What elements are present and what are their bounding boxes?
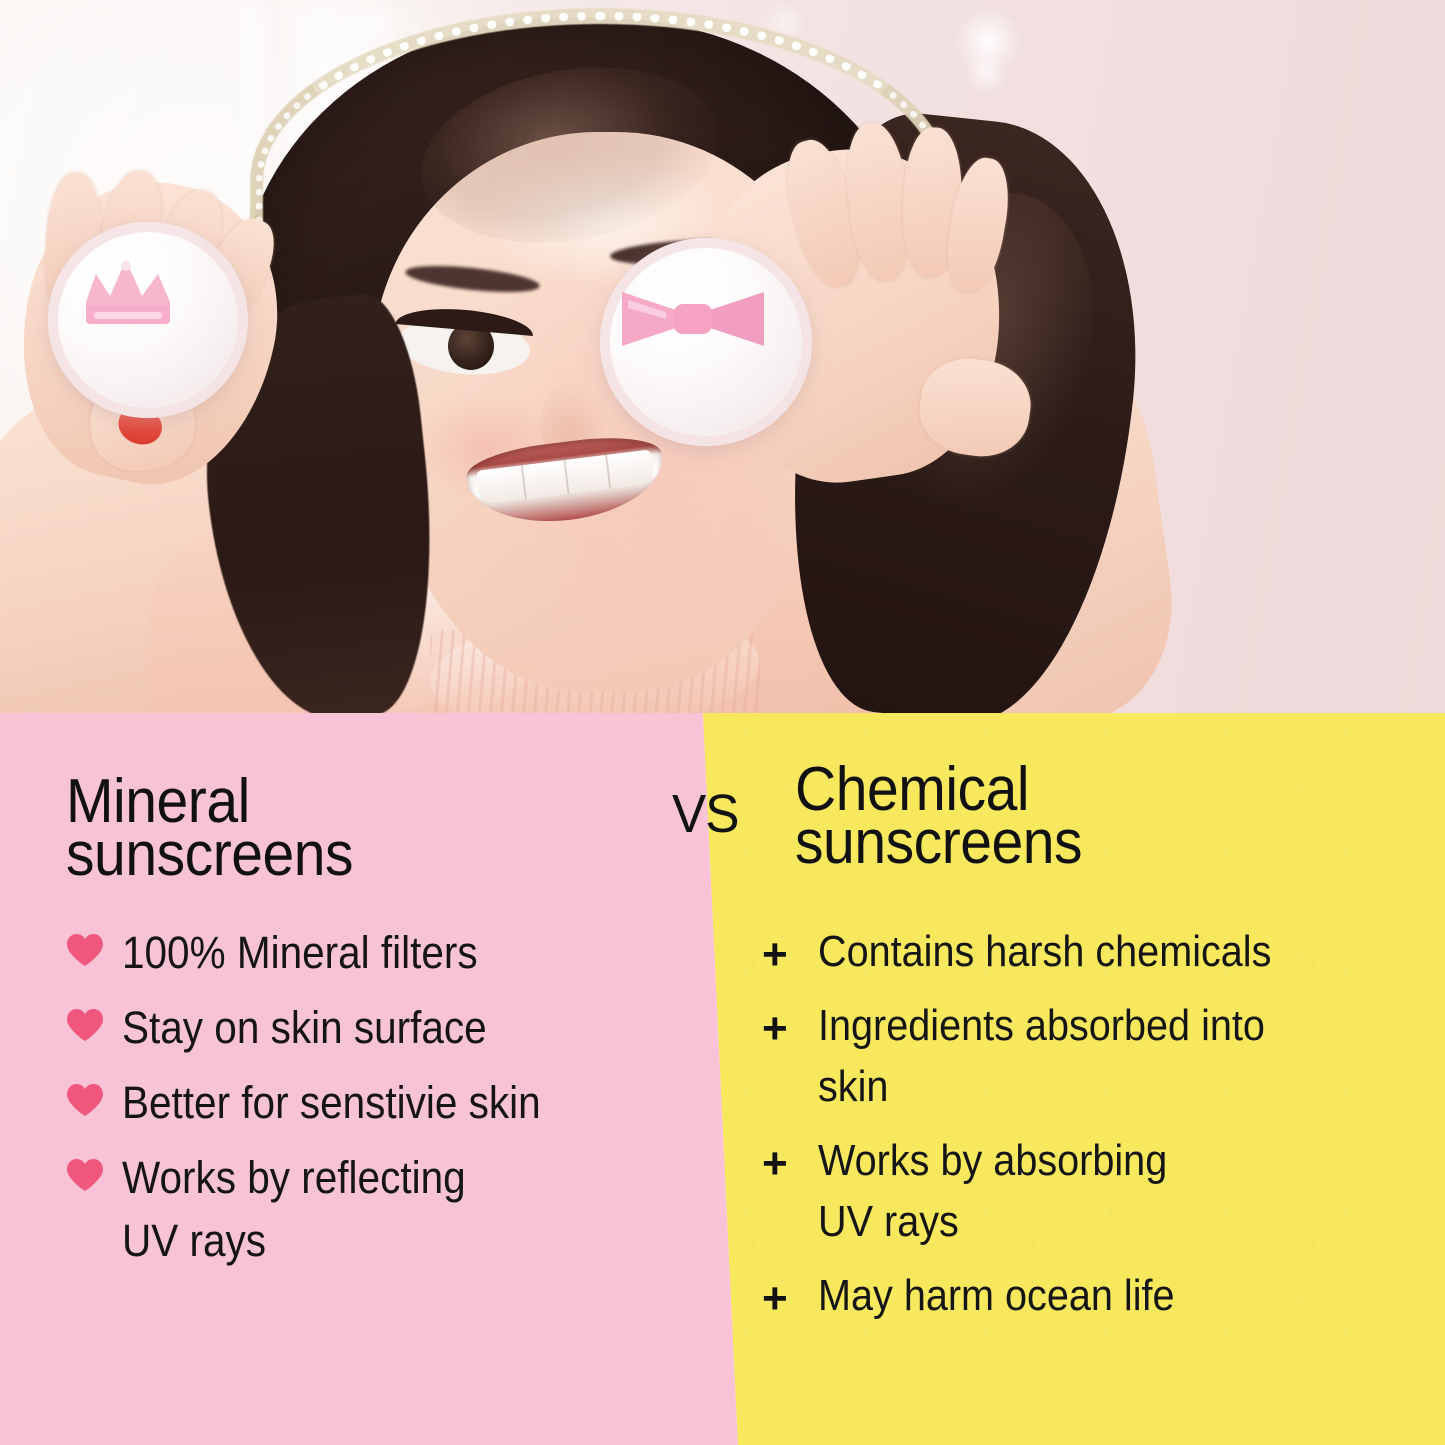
list-item: + May harm ocean life xyxy=(762,1265,1442,1327)
heart-icon xyxy=(66,1158,104,1192)
plus-icon: + xyxy=(762,933,788,977)
bullet-marker xyxy=(66,1071,122,1117)
list-item: + Works by absorbing UV rays xyxy=(762,1130,1442,1253)
plus-icon: + xyxy=(762,1277,788,1321)
mineral-benefits-list: 100% Mineral filters Stay on skin surfac… xyxy=(66,921,706,1284)
bullet-marker xyxy=(66,1146,122,1192)
list-item: Better for senstivie skin xyxy=(66,1071,706,1134)
bullet-marker: + xyxy=(762,1130,818,1186)
bullet-marker: + xyxy=(762,1265,818,1321)
mineral-heading: Mineral sunscreens xyxy=(66,775,353,882)
bow-icon xyxy=(618,282,768,354)
chemical-heading: Chemical sunscreens xyxy=(795,763,1082,870)
plus-icon: + xyxy=(762,1007,788,1051)
bullet-marker xyxy=(66,996,122,1042)
list-item: + Contains harsh chemicals xyxy=(762,921,1442,983)
list-item-text: Works by reflecting UV rays xyxy=(122,1146,466,1272)
comparison-panels: Mineral sunscreens VS Chemical sunscreen… xyxy=(0,713,1445,1445)
list-item-text: Works by absorbing UV rays xyxy=(818,1130,1167,1253)
bullet-marker: + xyxy=(762,921,818,977)
bullet-marker: + xyxy=(762,995,818,1051)
list-item-text: Better for senstivie skin xyxy=(122,1071,541,1134)
heart-icon xyxy=(66,933,104,967)
vs-label: VS xyxy=(672,783,739,845)
bokeh-sparkle-icon xyxy=(965,52,1007,92)
heart-icon xyxy=(66,1083,104,1117)
heart-icon xyxy=(66,1008,104,1042)
list-item-text: 100% Mineral filters xyxy=(122,921,478,984)
bokeh-sparkle-icon xyxy=(340,0,400,46)
list-item-text: Ingredients absorbed into skin xyxy=(818,995,1265,1118)
list-item: Works by reflecting UV rays xyxy=(66,1146,706,1272)
list-item-text: Stay on skin surface xyxy=(122,996,487,1059)
list-item-text: May harm ocean life xyxy=(818,1265,1175,1327)
bullet-marker xyxy=(66,921,122,967)
list-item: + Ingredients absorbed into skin xyxy=(762,995,1442,1118)
list-item-text: Contains harsh chemicals xyxy=(818,921,1271,983)
crown-icon xyxy=(80,252,204,332)
list-item: 100% Mineral filters xyxy=(66,921,706,984)
plus-icon: + xyxy=(762,1142,788,1186)
hero-photo xyxy=(0,0,1445,713)
list-item: Stay on skin surface xyxy=(66,996,706,1059)
infographic-canvas: Mineral sunscreens VS Chemical sunscreen… xyxy=(0,0,1445,1445)
chemical-drawbacks-list: + Contains harsh chemicals + Ingredients… xyxy=(762,921,1442,1339)
